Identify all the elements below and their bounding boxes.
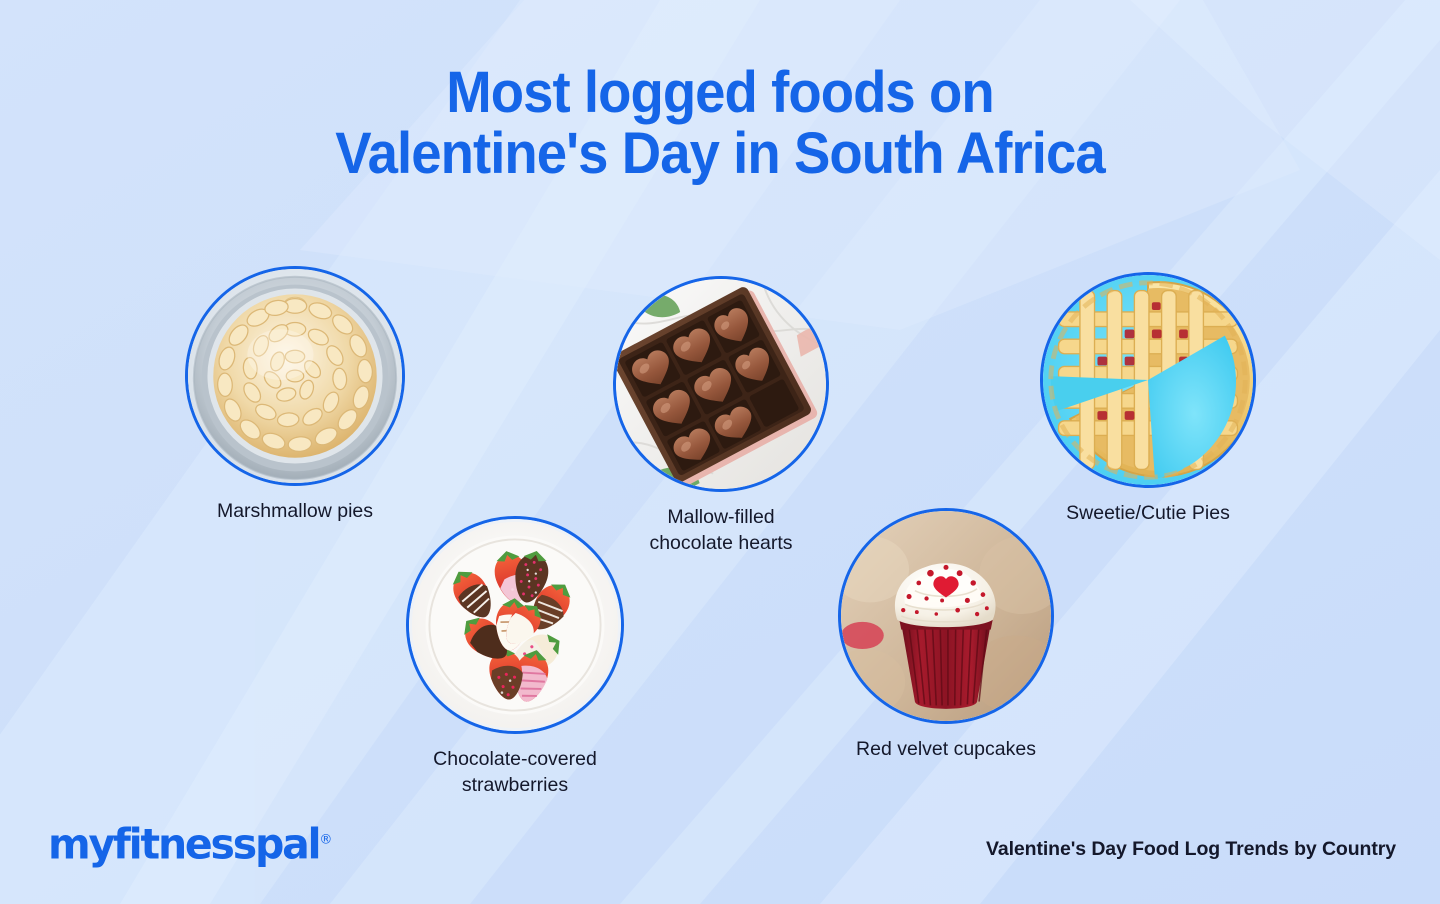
- chocolate-strawberries-caption: Chocolate-covered strawberries: [406, 747, 624, 799]
- red-velvet-cupcake-image: [841, 511, 1051, 721]
- logo-wordmark: myfitnesspal: [48, 820, 319, 869]
- marshmallow-pies-caption: Marshmallow pies: [185, 499, 405, 525]
- food-item-chocolate-covered-strawberries: Chocolate-covered strawberries: [406, 516, 624, 799]
- marshmallow-pies-image-circle[interactable]: [185, 266, 405, 486]
- myfitnesspal-logo[interactable]: myfitnesspal®: [48, 820, 332, 869]
- food-item-red-velvet-cupcakes: Red velvet cupcakes: [838, 508, 1054, 763]
- page-title: Most logged foods on Valentine's Day in …: [43, 62, 1397, 185]
- red-velvet-cupcakes-caption: Red velvet cupcakes: [838, 737, 1054, 763]
- footer-tagline: Valentine's Day Food Log Trends by Count…: [986, 838, 1396, 861]
- meringue-pie-image: [188, 269, 402, 483]
- lattice-cherry-pie-image: [1043, 275, 1253, 485]
- food-item-marshmallow-pies: Marshmallow pies: [185, 266, 405, 525]
- chocolate-strawberry-plate-image: [409, 519, 621, 731]
- chocolate-strawberries-image-circle[interactable]: [406, 516, 624, 734]
- chocolate-hearts-caption: Mallow-filled chocolate hearts: [613, 505, 829, 557]
- red-velvet-cupcake-image-circle[interactable]: [838, 508, 1054, 724]
- food-item-mallow-filled-chocolate-hearts: Mallow-filled chocolate hearts: [613, 276, 829, 557]
- chocolate-hearts-image-circle[interactable]: [613, 276, 829, 492]
- sweetie-cutie-pies-caption: Sweetie/Cutie Pies: [1040, 501, 1256, 527]
- sweetie-cutie-pies-image-circle[interactable]: [1040, 272, 1256, 488]
- food-item-sweetie-cutie-pies: Sweetie/Cutie Pies: [1040, 272, 1256, 527]
- heart-chocolate-box-image: [616, 279, 826, 489]
- registered-trademark-icon: ®: [319, 832, 332, 847]
